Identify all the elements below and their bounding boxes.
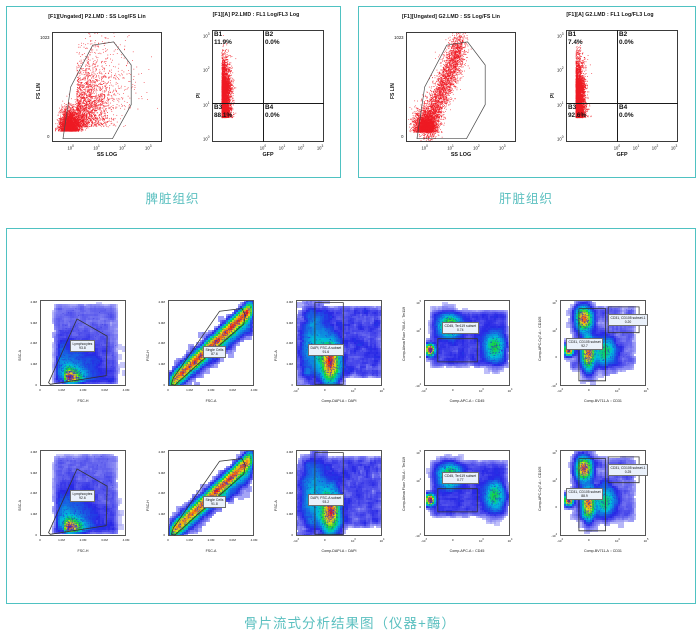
x-tick: 104 xyxy=(380,388,385,393)
axis-tick-label: 101 xyxy=(557,101,563,107)
y-tick: 104 xyxy=(416,328,421,333)
x-tick: 0 xyxy=(167,538,169,542)
x-tick: 4.0M xyxy=(123,538,130,542)
y-tick: 105 xyxy=(552,300,557,305)
quadrant-divider-vertical xyxy=(617,30,618,142)
y-tick: 0 xyxy=(35,383,37,387)
y-tick: 2.0M xyxy=(30,491,37,495)
y-tick: 0 xyxy=(291,533,293,537)
caption-liver: 肝脏组织 xyxy=(358,188,694,207)
x-axis-label: Comp-DAPI-A :: DAPI xyxy=(296,549,382,553)
x-axis-label: FSC-A xyxy=(168,399,254,403)
gate-polygon xyxy=(52,32,162,142)
quadrant-label-B3: B3 xyxy=(214,104,222,111)
x-axis-label: GFP xyxy=(566,152,678,158)
plot-title: [F1][A] P2.LMD : FL1 Log/FL3 Log xyxy=(180,12,332,18)
y-tick: 2.0M xyxy=(286,491,293,495)
y-axis-label: PI xyxy=(550,93,556,98)
x-tick: 103 xyxy=(351,388,356,393)
plot-axes-frame xyxy=(566,30,678,142)
quadrant-value-B1: 7.4% xyxy=(568,39,583,46)
axis-tick-label: 101 xyxy=(279,144,285,150)
plot-title: [F1][A] G2.LMD : FL1 Log/FL3 Log xyxy=(534,12,686,18)
plot-spleen-gfp-pi: [F1][A] P2.LMD : FL1 Log/FL3 LogB111.9%B… xyxy=(180,12,332,170)
axis-tick-label: 100 xyxy=(557,135,563,141)
x-tick: -103 xyxy=(293,388,299,393)
gate-label-value: 93.8 xyxy=(73,346,93,351)
x-tick: 4.0M xyxy=(251,388,258,392)
y-axis-label: FSC-H xyxy=(146,500,150,511)
y-tick: 1.0M xyxy=(30,362,37,366)
x-tick: 4.0M xyxy=(123,388,130,392)
axis-tick-label: 0 xyxy=(401,134,403,139)
x-axis-label: Comp-BV711-A :: CD31 xyxy=(560,549,646,553)
gate-label-value: 87.6 xyxy=(206,352,224,357)
gate-label-value: 92.6 xyxy=(73,496,93,501)
x-axis-label: Comp-APC-A :: CD45 xyxy=(424,549,510,553)
y-axis-label: FS LIN xyxy=(36,83,42,99)
x-axis-label: FSC-H xyxy=(40,399,126,403)
y-tick: 1.0M xyxy=(158,512,165,516)
x-tick: 0 xyxy=(588,538,590,542)
gate-stat-primary: CD31, CD105 subset92.7 xyxy=(566,338,603,350)
y-axis-label: Comp-Alexa Fluor 700-A :: Ter119 xyxy=(402,457,406,511)
x-tick: -103 xyxy=(421,538,427,543)
axis-tick-label: 101 xyxy=(93,144,99,150)
x-tick: 103 xyxy=(479,538,484,543)
density-plot-r1-c1: Lymphocytes93.8FSC-HSSC-A01.0M2.0M3.0M4.… xyxy=(40,300,158,418)
gate-label-value: 92.7 xyxy=(569,344,601,349)
y-tick: 2.0M xyxy=(158,491,165,495)
x-axis-label: Comp-APC-A :: CD45 xyxy=(424,399,510,403)
caption-spleen: 脾脏组织 xyxy=(6,188,339,207)
x-tick: -104 xyxy=(557,538,563,543)
density-plot-r1-c3: DAPI, FSC-A subset91.6Comp-DAPI-A :: DAP… xyxy=(296,300,414,418)
gate-label-value: 0.77 xyxy=(445,478,477,483)
y-tick: 1.0M xyxy=(30,512,37,516)
x-tick: 103 xyxy=(479,388,484,393)
y-tick: 3.0M xyxy=(30,321,37,325)
quadrant-value-B2: 0.0% xyxy=(619,39,634,46)
y-tick: 0 xyxy=(555,505,557,509)
gate-label-value: 91.6 xyxy=(311,350,342,355)
gate-stat-primary: DAPI, FSC-A subset93.2 xyxy=(308,494,344,506)
x-axis-label: SS LOG xyxy=(52,152,162,158)
quadrant-label-B3: B3 xyxy=(568,104,576,111)
x-tick: 0 xyxy=(324,538,326,542)
x-tick: 104 xyxy=(615,388,620,393)
gate-stat-secondary: CD31, CD105 subset-10.20 xyxy=(608,314,648,326)
y-axis-label: FSC-H xyxy=(146,350,150,361)
quadrant-label-B4: B4 xyxy=(265,104,273,111)
y-tick: 2.0M xyxy=(30,341,37,345)
y-tick: -104 xyxy=(551,383,557,388)
y-tick: 1.0M xyxy=(286,512,293,516)
axis-tick-label: 100 xyxy=(260,144,266,150)
x-tick: 104 xyxy=(508,388,513,393)
x-tick: 3.0M xyxy=(229,388,236,392)
gate-label-value: 91.8 xyxy=(206,502,224,507)
y-axis-label: FS LIN xyxy=(390,83,396,99)
axis-tick-label: 102 xyxy=(557,66,563,72)
x-tick: -103 xyxy=(293,538,299,543)
quadrant-label-B2: B2 xyxy=(619,31,627,38)
plot-liver-gfp-pi: [F1][A] G2.LMD : FL1 Log/FL3 LogB17.4%B2… xyxy=(534,12,686,170)
axis-tick-label: 103 xyxy=(499,144,505,150)
axis-tick-label: 1023 xyxy=(40,35,49,40)
plot-axes-frame xyxy=(212,30,324,142)
y-tick: -104 xyxy=(415,533,421,538)
caption-bottom: 骨片流式分析结果图（仪器+酶） xyxy=(0,612,700,632)
axis-tick-label: 101 xyxy=(203,101,209,107)
y-tick: 0 xyxy=(419,505,421,509)
gate-label-value: 88.9 xyxy=(569,494,601,499)
y-axis-label: SSC-A xyxy=(18,350,22,361)
y-axis-label: FSC-A xyxy=(274,350,278,361)
plot-title: [F1][Ungated] G2.LMD : SS Log/FS Lin xyxy=(376,14,526,20)
axis-tick-label: 103 xyxy=(203,32,209,38)
y-tick: 0 xyxy=(163,533,165,537)
y-tick: 4.0M xyxy=(286,300,293,304)
axis-tick-label: 103 xyxy=(671,144,677,150)
x-tick: 1.0M xyxy=(58,538,65,542)
gate-label-value: 0.20 xyxy=(611,320,646,325)
y-tick: 104 xyxy=(416,478,421,483)
axis-tick-label: 0 xyxy=(47,134,49,139)
gate-stat-primary: Lymphocytes92.6 xyxy=(70,490,95,502)
axis-tick-label: 100 xyxy=(614,144,620,150)
x-tick: 2.0M xyxy=(80,388,87,392)
x-tick: 0 xyxy=(167,388,169,392)
x-tick: 1.0M xyxy=(58,388,65,392)
gate-overlay xyxy=(424,300,510,386)
gate-label-value: 0.25 xyxy=(611,470,646,475)
gate-overlay xyxy=(168,300,254,386)
axis-tick-label: 103 xyxy=(317,144,323,150)
quadrant-value-B4: 0.0% xyxy=(265,112,280,119)
density-plot-r1-c4: CD45, Ter119 subset0.74Comp-APC-A :: CD4… xyxy=(424,300,548,418)
x-axis-label: FSC-A xyxy=(168,549,254,553)
y-axis-label: SSC-A xyxy=(18,500,22,511)
y-tick: 105 xyxy=(416,450,421,455)
quadrant-value-B2: 0.0% xyxy=(265,39,280,46)
gate-stat-secondary: CD31, CD105 subset-10.25 xyxy=(608,464,648,476)
y-tick: 104 xyxy=(552,328,557,333)
plot-liver-ss-fs: [F1][Ungated] G2.LMD : SS Log/FS Lin1001… xyxy=(376,14,526,169)
x-tick: 3.0M xyxy=(101,538,108,542)
quadrant-value-B3: 88.1% xyxy=(214,112,232,119)
quadrant-label-B4: B4 xyxy=(619,104,627,111)
y-tick: 3.0M xyxy=(158,321,165,325)
gate-stat-primary: DAPI, FSC-A subset91.6 xyxy=(308,344,344,356)
axis-tick-label: 100 xyxy=(421,144,427,150)
x-axis-label: FSC-H xyxy=(40,549,126,553)
x-tick: 3.0M xyxy=(101,388,108,392)
y-axis-label: FSC-A xyxy=(274,500,278,511)
x-axis-label: Comp-BV711-A :: CD31 xyxy=(560,399,646,403)
axis-tick-label: 102 xyxy=(119,144,125,150)
x-axis-label: Comp-DAPI-A :: DAPI xyxy=(296,399,382,403)
gate-overlay xyxy=(168,450,254,536)
quadrant-label-B1: B1 xyxy=(568,31,576,38)
gate-polygon xyxy=(406,32,516,142)
x-tick: 104 xyxy=(615,538,620,543)
y-axis-label: Comp-APC-Cy7-A :: CD105 xyxy=(538,317,542,361)
y-tick: 4.0M xyxy=(286,450,293,454)
quadrant-value-B4: 0.0% xyxy=(619,112,634,119)
x-tick: 3.0M xyxy=(229,538,236,542)
density-plot-r1-c2: Single Cells87.6FSC-AFSC-H01.0M2.0M3.0M4… xyxy=(168,300,286,418)
y-tick: 2.0M xyxy=(286,341,293,345)
x-tick: 0 xyxy=(452,538,454,542)
gate-stat-primary: Single Cells87.6 xyxy=(203,346,226,358)
plot-title: [F1][Ungated] P2.LMD : SS Log/FS Lin xyxy=(22,14,172,20)
y-tick: 3.0M xyxy=(286,321,293,325)
x-tick: 1.0M xyxy=(186,388,193,392)
density-plot-r2-c3: DAPI, FSC-A subset93.2Comp-DAPI-A :: DAP… xyxy=(296,450,414,568)
y-axis-label: Comp-Alexa Fluor 700-A :: Ter119 xyxy=(402,307,406,361)
y-tick: 4.0M xyxy=(30,300,37,304)
y-axis-label: PI xyxy=(196,93,202,98)
quadrant-label-B2: B2 xyxy=(265,31,273,38)
axis-tick-label: 102 xyxy=(298,144,304,150)
x-tick: 2.0M xyxy=(80,538,87,542)
x-tick: -103 xyxy=(421,388,427,393)
y-tick: 3.0M xyxy=(286,471,293,475)
x-tick: 104 xyxy=(380,538,385,543)
axis-tick-label: 102 xyxy=(203,66,209,72)
y-tick: 0 xyxy=(419,355,421,359)
axis-tick-label: 103 xyxy=(145,144,151,150)
gate-label-value: 0.74 xyxy=(445,328,477,333)
axis-tick-label: 1023 xyxy=(394,35,403,40)
density-plot-r2-c5: CD31, CD105 subset88.9CD31, CD105 subset… xyxy=(560,450,678,568)
quadrant-divider-vertical xyxy=(263,30,264,142)
y-tick: 0 xyxy=(291,383,293,387)
x-axis-label: GFP xyxy=(212,152,324,158)
axis-tick-label: 101 xyxy=(447,144,453,150)
axis-tick-label: 101 xyxy=(633,144,639,150)
x-tick: 104 xyxy=(508,538,513,543)
quadrant-label-B1: B1 xyxy=(214,31,222,38)
gate-overlay xyxy=(296,450,382,536)
x-tick: 2.0M xyxy=(208,388,215,392)
y-tick: 2.0M xyxy=(158,341,165,345)
density-plot-r2-c2: Single Cells91.8FSC-AFSC-H01.0M2.0M3.0M4… xyxy=(168,450,286,568)
x-tick: 0 xyxy=(39,538,41,542)
quadrant-value-B1: 11.9% xyxy=(214,39,232,46)
x-tick: 105 xyxy=(644,538,649,543)
y-axis-label: Comp-APC-Cy7-A :: CD105 xyxy=(538,467,542,511)
y-tick: 0 xyxy=(163,383,165,387)
x-tick: 2.0M xyxy=(208,538,215,542)
density-plot-r2-c1: Lymphocytes92.6FSC-HSSC-A01.0M2.0M3.0M4.… xyxy=(40,450,158,568)
x-tick: 0 xyxy=(452,388,454,392)
axis-tick-label: 103 xyxy=(557,32,563,38)
axis-tick-label: 102 xyxy=(652,144,658,150)
x-tick: -104 xyxy=(557,388,563,393)
x-tick: 1.0M xyxy=(186,538,193,542)
gate-stat-primary: CD31, CD105 subset88.9 xyxy=(566,488,603,500)
y-tick: 4.0M xyxy=(158,300,165,304)
y-tick: 3.0M xyxy=(30,471,37,475)
x-axis-label: SS LOG xyxy=(406,152,516,158)
y-tick: 104 xyxy=(552,478,557,483)
x-tick: 0 xyxy=(588,388,590,392)
y-tick: 1.0M xyxy=(158,362,165,366)
quadrant-value-B3: 92.6% xyxy=(568,112,586,119)
y-tick: 105 xyxy=(552,450,557,455)
y-tick: 0 xyxy=(555,355,557,359)
gate-stat-primary: CD45, Ter119 subset0.74 xyxy=(442,322,479,334)
gate-stat-primary: CD45, Ter119 subset0.77 xyxy=(442,472,479,484)
x-tick: 0 xyxy=(324,388,326,392)
axis-tick-label: 102 xyxy=(473,144,479,150)
gate-overlay xyxy=(296,300,382,386)
gate-label-value: 93.2 xyxy=(311,500,342,505)
y-tick: -104 xyxy=(415,383,421,388)
x-tick: 103 xyxy=(351,538,356,543)
gate-stat-primary: Lymphocytes93.8 xyxy=(70,340,95,352)
gate-stat-primary: Single Cells91.8 xyxy=(203,496,226,508)
y-tick: 4.0M xyxy=(30,450,37,454)
axis-tick-label: 100 xyxy=(67,144,73,150)
axis-tick-label: 100 xyxy=(203,135,209,141)
y-tick: 0 xyxy=(35,533,37,537)
y-tick: 1.0M xyxy=(286,362,293,366)
y-tick: 105 xyxy=(416,300,421,305)
x-tick: 4.0M xyxy=(251,538,258,542)
x-tick: 105 xyxy=(644,388,649,393)
y-tick: 3.0M xyxy=(158,471,165,475)
x-tick: 0 xyxy=(39,388,41,392)
density-plot-r1-c5: CD31, CD105 subset92.7CD31, CD105 subset… xyxy=(560,300,678,418)
plot-spleen-ss-fs: [F1][Ungated] P2.LMD : SS Log/FS Lin1001… xyxy=(22,14,172,169)
density-plot-r2-c4: CD45, Ter119 subset0.77Comp-APC-A :: CD4… xyxy=(424,450,548,568)
gate-overlay xyxy=(424,450,510,536)
y-tick: -104 xyxy=(551,533,557,538)
y-tick: 4.0M xyxy=(158,450,165,454)
